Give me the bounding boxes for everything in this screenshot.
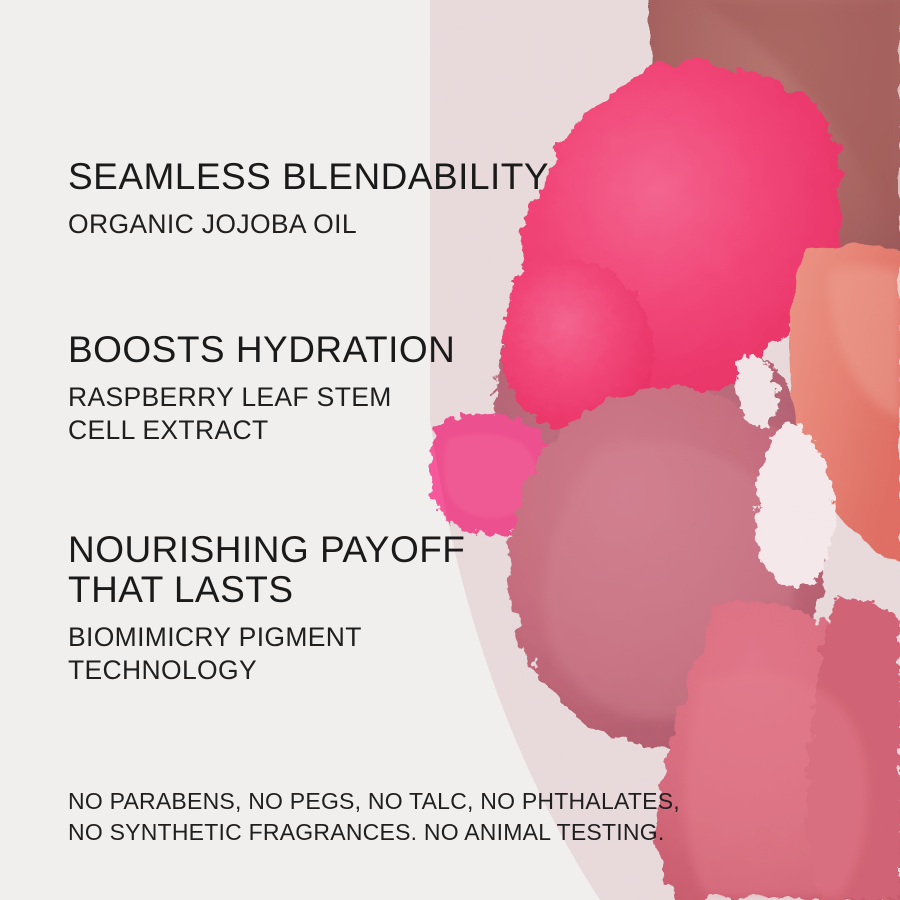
benefit-subtitle-2: RASPBERRY LEAF STEM CELL EXTRACT	[68, 381, 455, 446]
benefit-item-2: BOOSTS HYDRATION RASPBERRY LEAF STEM CEL…	[68, 330, 455, 446]
benefit-subtitle-1: ORGANIC JOJOBA OIL	[68, 208, 549, 241]
benefit-item-3: NOURISHING PAYOFF THAT LASTS BIOMIMICRY …	[68, 530, 465, 686]
benefit-title-2: BOOSTS HYDRATION	[68, 330, 455, 370]
product-benefits-panel: SEAMLESS BLENDABILITY ORGANIC JOJOBA OIL…	[0, 0, 900, 900]
benefits-text-content: SEAMLESS BLENDABILITY ORGANIC JOJOBA OIL…	[0, 0, 900, 900]
benefit-title-3: NOURISHING PAYOFF THAT LASTS	[68, 530, 465, 610]
benefit-item-1: SEAMLESS BLENDABILITY ORGANIC JOJOBA OIL	[68, 157, 549, 241]
benefit-title-1: SEAMLESS BLENDABILITY	[68, 157, 549, 197]
benefit-subtitle-3: BIOMIMICRY PIGMENT TECHNOLOGY	[68, 621, 465, 686]
free-from-disclaimer: NO PARABENS, NO PEGS, NO TALC, NO PHTHAL…	[68, 786, 680, 847]
